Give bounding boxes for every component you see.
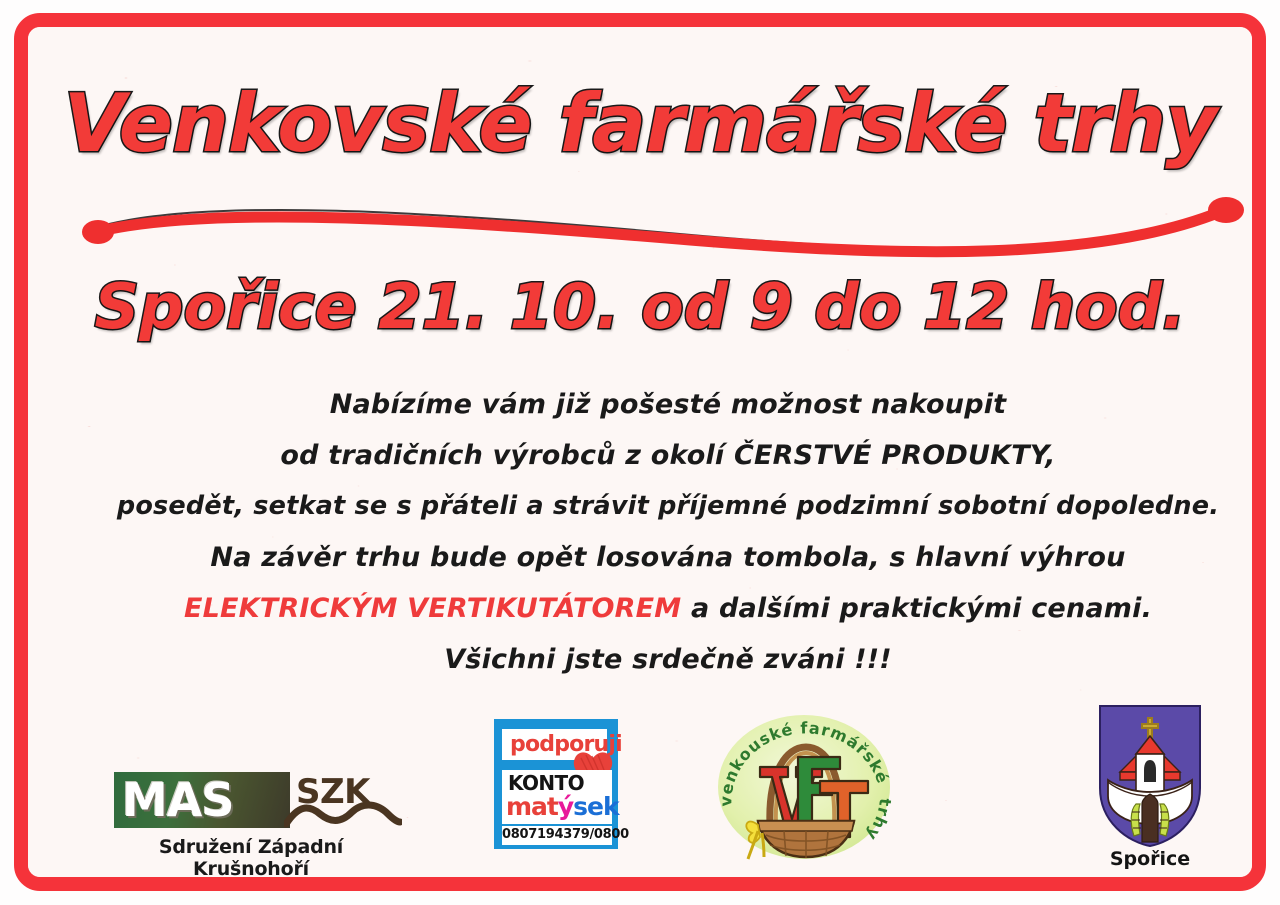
body-text: Nabízíme vám již pošesté možnost nakoupi… xyxy=(68,379,1266,685)
matysek-account-number: 0807194379/0800 xyxy=(502,827,612,842)
mountain-wave-icon xyxy=(284,798,402,832)
body-line-prize: ELEKTRICKÝM VERTIKUTÁTOREM a dalšími pra… xyxy=(68,583,1266,634)
swoosh-decoration xyxy=(80,182,1260,262)
body-line-3: posedět, setkat se s přáteli a strávit p… xyxy=(68,481,1266,532)
prize-highlight: ELEKTRICKÝM VERTIKUTÁTOREM xyxy=(184,593,681,624)
konto-matysek-logo: podporuji KONTO matýsek 0807194379/0800 xyxy=(494,719,618,849)
vft-market-logo: venkouské farmářské trhy xyxy=(714,707,894,867)
page-title: Venkovské farmářské trhy xyxy=(28,77,1252,170)
body-line-4: Na závěr trhu bude opět losována tombola… xyxy=(68,532,1266,583)
matysek-brand-text: matýsek xyxy=(506,793,619,820)
mas-logo-mark: MAS SZK xyxy=(106,770,396,832)
mas-wordmark: MAS xyxy=(122,774,234,826)
mas-szk-logo: MAS SZK Sdružení Západní Krušnohoří xyxy=(106,770,396,832)
matysek-brand-part1: mat xyxy=(506,792,558,821)
matysek-row-account: 0807194379/0800 xyxy=(502,826,612,845)
matysek-row-brand: KONTO matýsek xyxy=(502,770,612,824)
matysek-brand-part2: ý xyxy=(558,792,573,821)
coat-of-arms-caption: Spořice xyxy=(1086,848,1214,870)
mas-caption: Sdružení Západní Krušnohoří xyxy=(106,836,396,880)
logo-row: MAS SZK Sdružení Západní Krušnohoří podp… xyxy=(28,692,1252,891)
poster-frame: Venkovské farmářské trhy Spořice 21. 10.… xyxy=(14,13,1266,891)
body-line-closing: Všichni jste srdečně zváni !!! xyxy=(68,634,1266,685)
sporice-coat-of-arms: Spořice xyxy=(1086,700,1214,855)
body-line-1: Nabízíme vám již pošesté možnost nakoupi… xyxy=(68,379,1266,430)
body-line-2: od tradičních výrobců z okolí ČERSTVÉ PR… xyxy=(68,430,1266,481)
prize-rest: a dalšími praktickými cenami. xyxy=(681,593,1152,624)
matysek-brand-part3: sek xyxy=(573,792,618,821)
page-subtitle: Spořice 21. 10. od 9 do 12 hod. xyxy=(28,270,1252,343)
shield-icon xyxy=(1086,700,1214,850)
poster: Venkovské farmářské trhy Spořice 21. 10.… xyxy=(0,0,1280,905)
poster-content: Venkovské farmářské trhy Spořice 21. 10.… xyxy=(28,27,1252,877)
